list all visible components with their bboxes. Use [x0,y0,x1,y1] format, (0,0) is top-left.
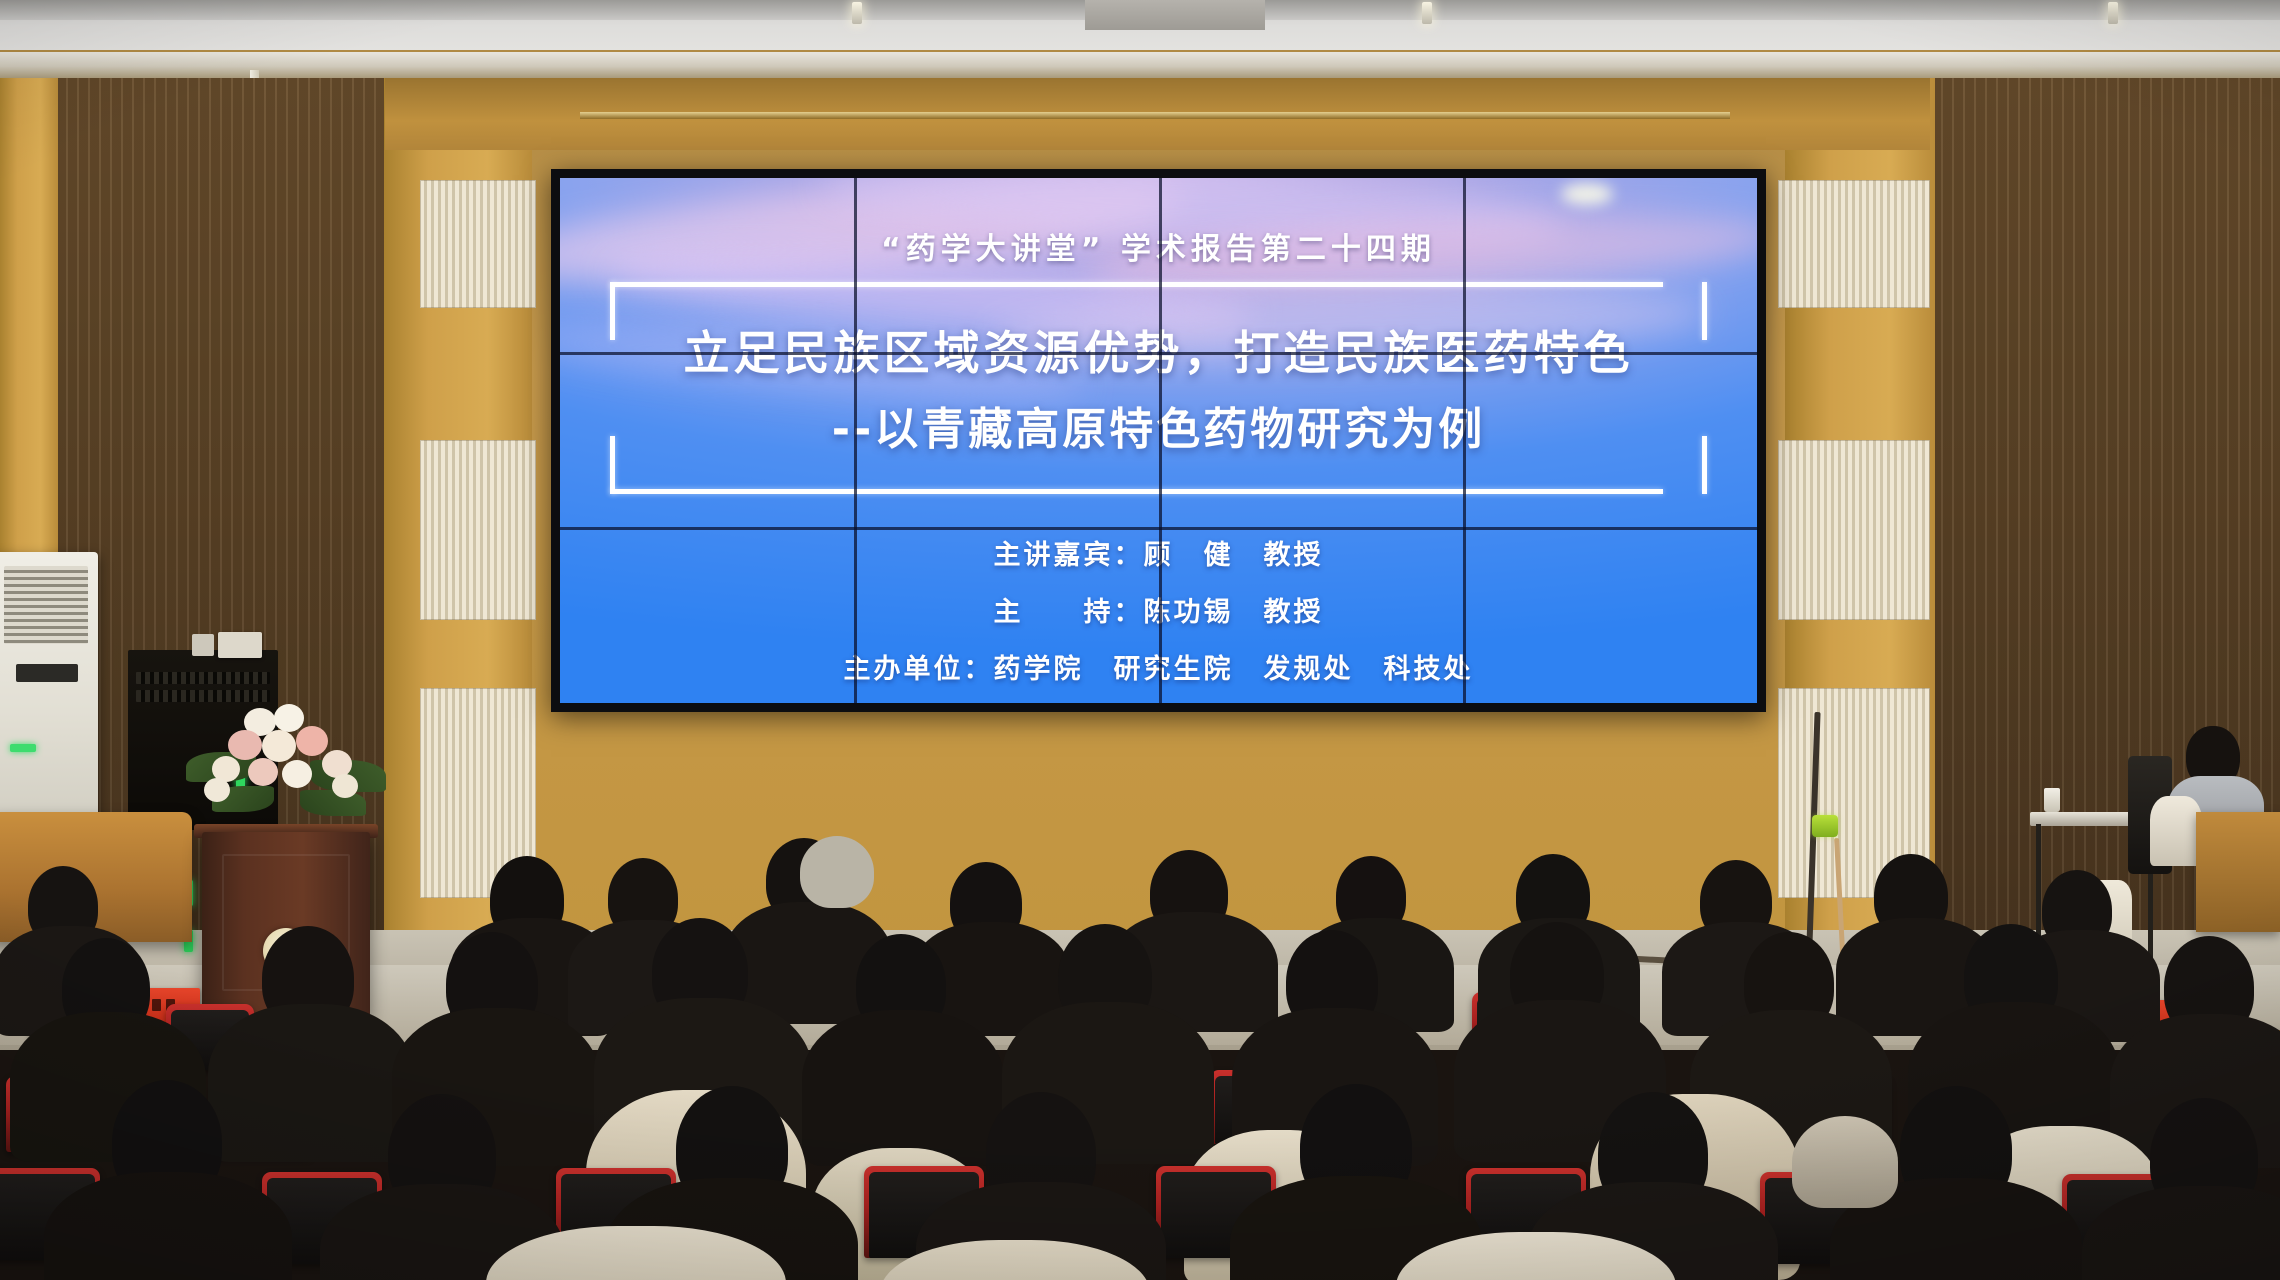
floral-arrangement [182,690,392,845]
led-video-wall[interactable]: “药学大讲堂” 学术报告第二十四期 立足民族区域资源优势，打造民族医药特色 --… [551,169,1766,712]
audience-area [0,880,2280,1280]
ac-display-panel [16,664,78,682]
acoustic-panel [1778,440,1930,620]
acoustic-panel [420,180,536,308]
wall-rail [580,112,1730,119]
ceiling-light-icon [1422,2,1432,24]
bracket-top [610,282,1663,287]
panel-seam-vertical [854,178,857,703]
wall-outlet[interactable] [218,632,262,658]
wall-switch[interactable] [192,634,214,656]
cup [2044,788,2060,812]
panel-seam-vertical [1463,178,1466,703]
ceiling-light-icon [852,2,862,24]
ac-power-led-icon [10,744,36,752]
panel-seam-vertical [1159,178,1162,703]
ceiling-light-icon [2108,2,2118,24]
rack-unit [136,672,270,684]
bracket-bottom [610,489,1663,494]
technician-arm [2150,796,2202,866]
power-adapter-icon [1812,815,1838,837]
ceiling-vent [1085,0,1265,30]
air-conditioner-unit [0,552,98,842]
acoustic-panel [420,440,536,620]
ac-grille [4,566,88,644]
wall-cornice [0,52,2280,78]
panel-seam-horizontal [560,527,1757,530]
panel-seam-horizontal [560,352,1757,355]
acoustic-panel [1778,180,1930,308]
screen-surface: “药学大讲堂” 学术报告第二十四期 立足民族区域资源优势，打造民族医药特色 --… [560,178,1757,703]
lecture-hall-photo: “药学大讲堂” 学术报告第二十四期 立足民族区域资源优势，打造民族医药特色 --… [0,0,2280,1280]
